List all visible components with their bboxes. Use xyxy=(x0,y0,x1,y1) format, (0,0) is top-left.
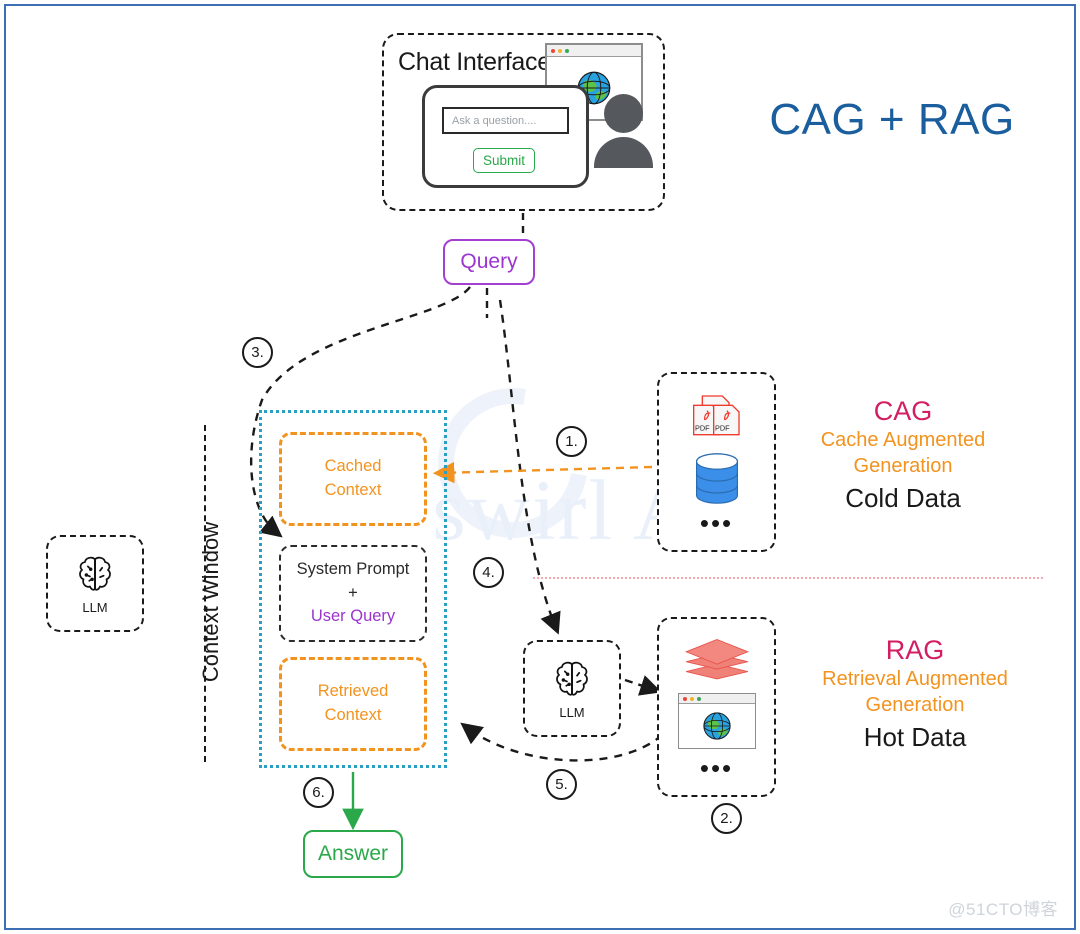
window-minimize-dot-icon xyxy=(558,49,562,53)
step-marker-6: 6. xyxy=(303,777,334,808)
step-marker-5: 5. xyxy=(546,769,577,800)
user-query-label: User Query xyxy=(311,605,395,629)
system-prompt-plus: + xyxy=(348,582,358,606)
cag-source-box[interactable]: PDF PDF ••• xyxy=(657,372,776,552)
retrieved-context-line2: Context xyxy=(325,704,382,728)
layers-stack-icon xyxy=(673,637,761,681)
brain-icon xyxy=(72,552,118,598)
brain-icon xyxy=(549,657,595,703)
context-window-label: Context Window xyxy=(198,507,222,697)
cached-context-line2: Context xyxy=(325,479,382,503)
step-marker-1: 1. xyxy=(556,426,587,457)
rag-legend: RAG Retrieval Augmented Generation Hot D… xyxy=(790,635,1040,753)
rag-source-box[interactable]: ••• xyxy=(657,617,776,797)
svg-text:PDF: PDF xyxy=(694,424,709,433)
cached-context-box[interactable]: Cached Context xyxy=(279,432,427,526)
window-maximize-dot-icon xyxy=(697,697,701,701)
cag-expansion-line1: Cache Augmented xyxy=(790,427,1016,453)
window-close-dot-icon xyxy=(683,697,687,701)
query-node[interactable]: Query xyxy=(443,239,535,285)
rag-expansion-line2: Generation xyxy=(790,692,1040,718)
chat-interface-title: Chat Interface xyxy=(398,48,551,77)
user-avatar-head-icon xyxy=(604,94,643,133)
page-title: CAG + RAG xyxy=(757,95,1027,145)
llm-label: LLM xyxy=(82,600,107,615)
retrieved-context-box[interactable]: Retrieved Context xyxy=(279,657,427,751)
watermark-bottom: @51CTO博客 xyxy=(948,895,1058,920)
diagram-canvas: swirl AI @51CTO博客 xyxy=(0,0,1080,934)
window-maximize-dot-icon xyxy=(565,49,569,53)
answer-node[interactable]: Answer xyxy=(303,830,403,878)
rag-more-indicator: ••• xyxy=(700,761,733,777)
window-close-dot-icon xyxy=(551,49,555,53)
cag-more-indicator: ••• xyxy=(700,516,733,532)
window-minimize-dot-icon xyxy=(690,697,694,701)
system-prompt-line1: System Prompt xyxy=(297,558,410,582)
step-marker-3: 3. xyxy=(242,337,273,368)
cached-context-line1: Cached xyxy=(325,455,382,479)
rag-expansion-line1: Retrieval Augmented xyxy=(790,666,1040,692)
globe-icon xyxy=(702,711,732,741)
llm-label: LLM xyxy=(559,705,584,720)
submit-button[interactable]: Submit xyxy=(473,148,535,173)
retrieved-context-line1: Retrieved xyxy=(318,680,389,704)
system-prompt-box[interactable]: System Prompt + User Query xyxy=(279,545,427,642)
cag-legend: CAG Cache Augmented Generation Cold Data xyxy=(790,396,1016,514)
browser-window-globe-icon xyxy=(678,693,756,749)
rag-data-label: Hot Data xyxy=(790,722,1040,753)
cag-rag-divider xyxy=(533,577,1043,579)
pdf-file-icon: PDF PDF xyxy=(674,392,760,441)
llm-node-middle[interactable]: LLM xyxy=(523,640,621,737)
svg-text:PDF: PDF xyxy=(715,424,730,433)
question-input[interactable]: Ask a question.... xyxy=(442,107,569,134)
cag-abbr: CAG xyxy=(790,396,1016,427)
llm-node-left[interactable]: LLM xyxy=(46,535,144,632)
cag-expansion-line2: Generation xyxy=(790,453,1016,479)
cag-data-label: Cold Data xyxy=(790,483,1016,514)
step-marker-4: 4. xyxy=(473,557,504,588)
database-cylinder-icon xyxy=(689,453,745,504)
step-marker-2: 2. xyxy=(711,803,742,834)
rag-abbr: RAG xyxy=(790,635,1040,666)
